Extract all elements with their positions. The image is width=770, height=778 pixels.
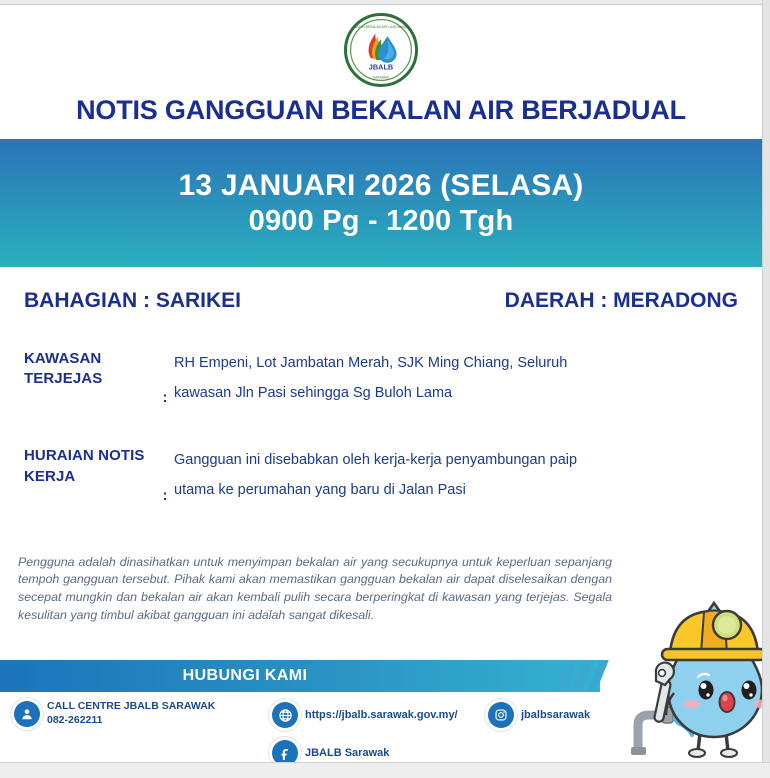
call-centre-phone: 082-262211: [47, 714, 215, 728]
instagram-handle: jbalbsarawak: [521, 708, 590, 722]
contact-bar-title: HUBUNGI KAMI: [183, 667, 308, 685]
affected-area-label-line2: TERJEJAS: [24, 369, 156, 389]
affected-area-value: RH Empeni, Lot Jambatan Merah, SJK Ming …: [174, 349, 567, 408]
division-label: BAHAGIAN : SARIKEI: [24, 289, 241, 313]
jbalb-logo: JBALB JABATAN BEKALAN AIR LUAR BANDAR SA…: [344, 13, 418, 87]
poster-header: JBALB JABATAN BEKALAN AIR LUAR BANDAR SA…: [0, 5, 762, 139]
svg-text:JBALB: JBALB: [369, 62, 393, 71]
contact-bar-wrap: HUBUNGI KAMI: [0, 660, 762, 692]
call-centre-text: CALL CENTRE JBALB SARAWAK 082-262211: [47, 700, 215, 727]
affected-area-value-line1: RH Empeni, Lot Jambatan Merah, SJK Ming …: [174, 349, 567, 379]
affected-area-label-line1: KAWASAN: [24, 349, 156, 369]
affected-area-value-line2: kawasan Jln Pasi sehingga Sg Buloh Lama: [174, 379, 567, 409]
logo-emblem-icon: JBALB JABATAN BEKALAN AIR LUAR BANDAR SA…: [347, 16, 415, 84]
work-description-value-line1: Gangguan ini disebabkan oleh kerja-kerja…: [174, 446, 577, 476]
work-description-label: HURAIAN NOTIS KERJA: [24, 446, 156, 505]
work-description-value-line2: utama ke perumahan yang baru di Jalan Pa…: [174, 476, 577, 506]
field-affected-area: KAWASAN TERJEJAS : RH Empeni, Lot Jambat…: [0, 313, 762, 408]
field-work-description: HURAIAN NOTIS KERJA : Gangguan ini diseb…: [0, 408, 762, 505]
globe-icon: [272, 702, 298, 728]
work-description-colon: :: [156, 487, 174, 506]
viewer-right-scrollbar[interactable]: [762, 0, 770, 778]
work-description-value: Gangguan ini disebabkan oleh kerja-kerja…: [174, 446, 577, 505]
person-icon: [14, 701, 40, 727]
facebook-handle: JBALB Sarawak: [305, 746, 389, 760]
svg-text:JABATAN BEKALAN AIR LUAR BANDA: JABATAN BEKALAN AIR LUAR BANDAR: [350, 25, 412, 29]
facebook-icon: [272, 740, 298, 762]
slash-decoration: [555, 660, 625, 692]
website-url: https://jbalb.sarawak.gov.my/: [305, 708, 458, 722]
viewer-bottom-strip: [0, 762, 770, 778]
page-title: NOTIS GANGGUAN BEKALAN AIR BERJADUAL: [0, 91, 762, 139]
schedule-banner: 13 JANUARI 2026 (SELASA) 0900 Pg - 1200 …: [0, 139, 762, 267]
work-description-label-line1: HURAIAN NOTIS: [24, 446, 156, 466]
notice-poster: JBALB JABATAN BEKALAN AIR LUAR BANDAR SA…: [0, 5, 762, 762]
contact-website[interactable]: https://jbalb.sarawak.gov.my/: [272, 702, 458, 728]
work-description-label-line2: KERJA: [24, 467, 156, 487]
affected-area-label: KAWASAN TERJEJAS: [24, 349, 156, 408]
banner-time: 0900 Pg - 1200 Tgh: [249, 205, 514, 238]
district-label: DAERAH : MERADONG: [505, 289, 738, 313]
logo-ring: JBALB JABATAN BEKALAN AIR LUAR BANDAR SA…: [344, 13, 418, 87]
region-row: BAHAGIAN : SARIKEI DAERAH : MERADONG: [0, 267, 762, 313]
contact-instagram[interactable]: jbalbsarawak: [488, 702, 590, 728]
banner-date: 13 JANUARI 2026 (SELASA): [179, 169, 584, 203]
contact-bar: HUBUNGI KAMI: [0, 660, 600, 692]
svg-text:SARAWAK: SARAWAK: [373, 75, 390, 79]
call-centre-name: CALL CENTRE JBALB SARAWAK: [47, 700, 215, 714]
contact-facebook[interactable]: JBALB Sarawak: [272, 740, 389, 762]
contact-call-centre[interactable]: CALL CENTRE JBALB SARAWAK 082-262211: [14, 700, 215, 727]
instagram-icon: [488, 702, 514, 728]
contact-details: CALL CENTRE JBALB SARAWAK 082-262211 htt…: [0, 698, 762, 762]
affected-area-colon: :: [156, 389, 174, 408]
disclaimer-text: Pengguna adalah dinasihatkan untuk menyi…: [0, 506, 762, 624]
document-viewer: JBALB JABATAN BEKALAN AIR LUAR BANDAR SA…: [0, 0, 770, 778]
